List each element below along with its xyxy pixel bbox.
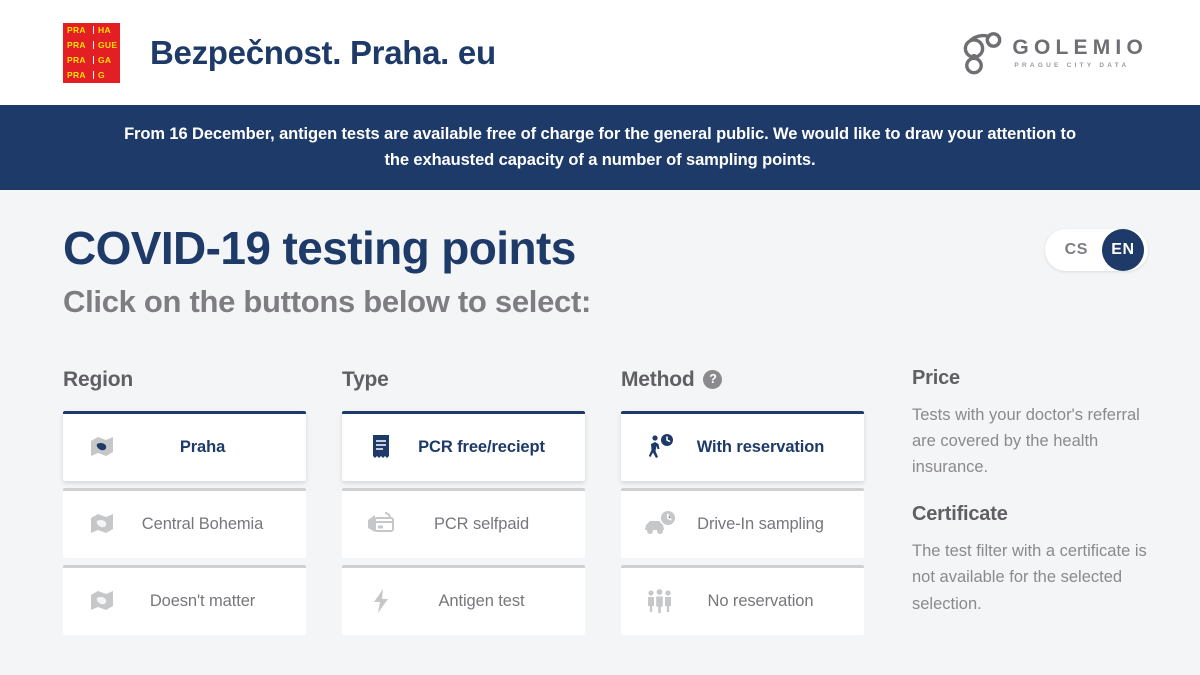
title-row: COVID-19 testing points Click on the but… bbox=[63, 190, 1148, 320]
info-column: Price Tests with your doctor's referral … bbox=[912, 367, 1162, 642]
map-region-icon bbox=[79, 512, 125, 536]
filter-option-label: Praha bbox=[125, 438, 290, 457]
logo-cell: G bbox=[93, 71, 120, 80]
filter-option-label: Antigen test bbox=[404, 592, 569, 611]
filter-column-method: Method ? With res bbox=[621, 367, 864, 642]
filter-option-with-reservation[interactable]: With reservation bbox=[621, 411, 864, 481]
filter-option-label: PCR selfpaid bbox=[404, 515, 569, 534]
filter-column-region: Region Praha Central B bbox=[63, 367, 306, 642]
filter-option-central-bohemia[interactable]: Central Bohemia bbox=[63, 488, 306, 558]
logo-cell: PRA bbox=[63, 71, 93, 80]
info-heading-certificate: Certificate bbox=[912, 503, 1162, 526]
filter-header-label: Type bbox=[342, 368, 389, 392]
golemio-molecule-icon bbox=[961, 30, 1003, 76]
page-subtitle: Click on the buttons below to select: bbox=[63, 284, 1148, 320]
filter-header-label: Region bbox=[63, 368, 133, 392]
language-toggle[interactable]: CS EN bbox=[1045, 229, 1148, 271]
filter-column-type: Type PCR free/reciept bbox=[342, 367, 585, 642]
info-text-price: Tests with your doctor's referral are co… bbox=[912, 402, 1162, 481]
filter-option-label: Doesn't matter bbox=[125, 592, 290, 611]
info-block-certificate: Certificate The test filter with a certi… bbox=[912, 503, 1162, 617]
announcement-banner: From 16 December, antigen tests are avai… bbox=[0, 105, 1200, 190]
filter-header-type: Type bbox=[342, 367, 585, 393]
info-text-certificate: The test filter with a certificate is no… bbox=[912, 538, 1162, 617]
language-option-cs[interactable]: CS bbox=[1045, 241, 1102, 259]
filter-option-doesnt-matter[interactable]: Doesn't matter bbox=[63, 565, 306, 635]
logo-cell: PRA bbox=[63, 56, 93, 65]
logo-cell: GA bbox=[93, 56, 120, 65]
logo-cell: GUE bbox=[93, 41, 120, 50]
filter-header-label: Method bbox=[621, 368, 694, 392]
filter-option-label: No reservation bbox=[683, 592, 848, 611]
golemio-subtitle: PRAGUE CITY DATA bbox=[1014, 62, 1148, 69]
golemio-name: GOLEMIO bbox=[1012, 37, 1148, 58]
filter-option-label: With reservation bbox=[683, 438, 848, 457]
map-region-icon bbox=[79, 589, 125, 613]
map-region-icon bbox=[79, 435, 125, 459]
people-group-icon bbox=[637, 588, 683, 614]
prague-logo-icon: PRA HA PRA GUE PRA GA PRA G bbox=[63, 23, 120, 83]
filter-option-pcr-free[interactable]: PCR free/reciept bbox=[342, 411, 585, 481]
filter-option-label: PCR free/reciept bbox=[404, 438, 569, 457]
language-option-en[interactable]: EN bbox=[1102, 229, 1144, 271]
logo-cell: PRA bbox=[63, 41, 93, 50]
site-title: Bezpečnost. Praha. eu bbox=[150, 34, 496, 72]
filter-option-praha[interactable]: Praha bbox=[63, 411, 306, 481]
golemio-text: GOLEMIO PRAGUE CITY DATA bbox=[1012, 37, 1148, 69]
logo-cell: PRA bbox=[63, 26, 93, 35]
filter-option-antigen-test[interactable]: Antigen test bbox=[342, 565, 585, 635]
filter-columns: Region Praha Central B bbox=[63, 367, 1148, 642]
main-content: COVID-19 testing points Click on the but… bbox=[0, 190, 1200, 642]
filter-option-pcr-selfpaid[interactable]: PCR selfpaid bbox=[342, 488, 585, 558]
golemio-logo[interactable]: GOLEMIO PRAGUE CITY DATA bbox=[961, 30, 1148, 76]
brand: PRA HA PRA GUE PRA GA PRA G Bezpečnost. … bbox=[63, 23, 496, 83]
filter-header-method: Method ? bbox=[621, 367, 864, 393]
filter-option-label: Drive-In sampling bbox=[683, 515, 848, 534]
credit-card-icon bbox=[358, 511, 404, 537]
filter-header-region: Region bbox=[63, 367, 306, 393]
help-icon[interactable]: ? bbox=[703, 370, 722, 389]
page-title: COVID-19 testing points bbox=[63, 190, 1148, 275]
info-block-price: Price Tests with your doctor's referral … bbox=[912, 367, 1162, 481]
lightning-bolt-icon bbox=[358, 588, 404, 614]
receipt-icon bbox=[358, 434, 404, 460]
info-heading-price: Price bbox=[912, 367, 1162, 390]
walking-person-clock-icon bbox=[637, 433, 683, 461]
filter-option-no-reservation[interactable]: No reservation bbox=[621, 565, 864, 635]
car-clock-icon bbox=[637, 510, 683, 538]
logo-cell: HA bbox=[93, 26, 120, 35]
site-header: PRA HA PRA GUE PRA GA PRA G Bezpečnost. … bbox=[0, 0, 1200, 105]
filter-option-label: Central Bohemia bbox=[125, 515, 290, 534]
filter-option-drive-in-sampling[interactable]: Drive-In sampling bbox=[621, 488, 864, 558]
